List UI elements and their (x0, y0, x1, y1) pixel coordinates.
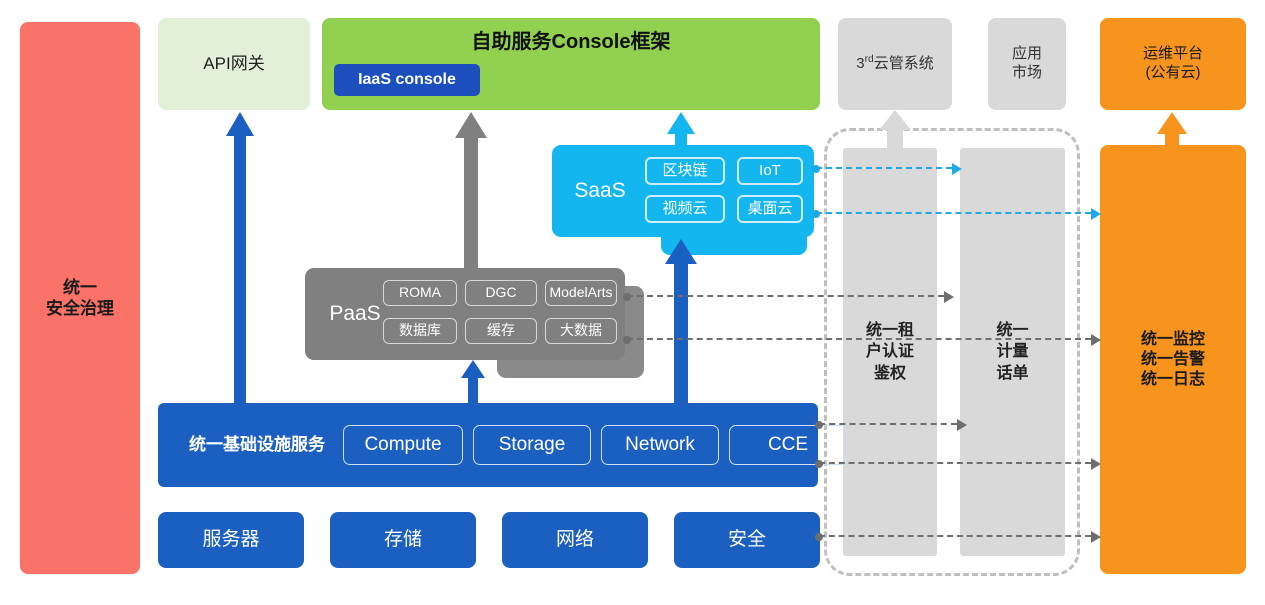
line-arrow-head (952, 163, 962, 175)
third-party-prefix: 3 (856, 55, 864, 72)
paas-tag-database[interactable]: 数据库 (383, 318, 457, 344)
col2-line-2: 计量 (996, 341, 1028, 363)
third-party-cloud-mgmt-box: 3rd云管系统 (838, 18, 952, 110)
paas-label: PaaS (317, 298, 393, 330)
governance-line-2: 安全治理 (46, 298, 114, 319)
architecture-diagram: 统一 安全治理 API网关 自助服务Console框架 IaaS console… (0, 0, 1265, 605)
unified-metering-billing-column: 统一 计量 话单 (960, 148, 1065, 556)
saas-block: SaaS 区块链 IoT 视频云 桌面云 (552, 145, 814, 237)
line-arrow-head (1091, 334, 1101, 346)
col2-line-3: 话单 (996, 363, 1028, 385)
governance-line-1: 统一 (46, 277, 114, 298)
saas-tag-video-cloud[interactable]: 视频云 (645, 195, 725, 223)
paas-tag-roma[interactable]: ROMA (383, 280, 457, 306)
arrow-ops-body-to-ops-top (1157, 112, 1187, 145)
api-gateway-box: API网关 (158, 18, 310, 110)
resource-box-security[interactable]: 安全 (674, 512, 820, 568)
line-start-dot (623, 293, 631, 301)
line-arrow-head (944, 291, 954, 303)
saas-label: SaaS (564, 175, 636, 207)
ops-body-line-3: 统一日志 (1141, 370, 1205, 390)
unified-tenant-auth-column: 统一租 户认证 鉴权 (843, 148, 937, 556)
third-party-label: 3rd云管系统 (856, 54, 933, 74)
line-start-dot (812, 210, 820, 218)
infra-tag-network[interactable]: Network (601, 425, 719, 465)
unified-infrastructure-bar: 统一基础设施服务 Compute Storage Network CCE (158, 403, 818, 487)
third-party-suffix: 云管系统 (874, 55, 934, 72)
arrow-saas-to-console (667, 112, 695, 147)
dashed-resources-to-ops (819, 535, 1091, 537)
api-gateway-label: API网关 (203, 53, 264, 74)
col1-line-2: 户认证 (866, 341, 914, 363)
ops-platform-public-cloud-box: 运维平台 (公有云) (1100, 18, 1246, 110)
paas-tag-modelarts[interactable]: ModelArts (545, 280, 617, 306)
dashed-saas-to-ops (816, 212, 1091, 214)
line-arrow-head (957, 419, 967, 431)
arrow-paas-to-console (455, 112, 487, 268)
resource-box-storage[interactable]: 存储 (330, 512, 476, 568)
console-title: 自助服务Console框架 (322, 26, 820, 58)
arrow-infra-to-saas (665, 239, 697, 403)
infra-tag-cce[interactable]: CCE (729, 425, 847, 465)
unified-security-governance-panel: 统一 安全治理 (20, 22, 140, 574)
dashed-paas-to-auth (627, 295, 944, 297)
dashed-infra-to-ops (819, 462, 1091, 464)
dashed-saas-to-metering (816, 167, 952, 169)
line-start-dot (623, 336, 631, 344)
self-service-console-panel: 自助服务Console框架 IaaS console PaaS console … (322, 18, 820, 110)
paas-tag-bigdata[interactable]: 大数据 (545, 318, 617, 344)
ops-body-line-1: 统一监控 (1141, 330, 1205, 350)
dashed-infra-to-metering (819, 423, 957, 425)
app-market-line-1: 应用 (1012, 45, 1042, 64)
line-arrow-head (1091, 458, 1101, 470)
paas-tag-cache[interactable]: 缓存 (465, 318, 537, 344)
line-start-dot (815, 421, 823, 429)
app-market-line-2: 市场 (1012, 64, 1042, 83)
line-arrow-head (1091, 531, 1101, 543)
infrastructure-label: 统一基础设施服务 (172, 429, 342, 461)
resource-box-server[interactable]: 服务器 (158, 512, 304, 568)
iaas-console-button[interactable]: IaaS console (334, 64, 480, 96)
line-arrow-head (1091, 208, 1101, 220)
infra-tag-compute[interactable]: Compute (343, 425, 463, 465)
ops-body-line-2: 统一告警 (1141, 350, 1205, 370)
arrow-infra-to-api-gateway (226, 112, 254, 403)
saas-tag-iot[interactable]: IoT (737, 157, 803, 185)
col1-line-3: 鉴权 (866, 363, 914, 385)
dashed-paas-to-ops (627, 338, 1091, 340)
line-start-dot (815, 533, 823, 541)
app-market-box: 应用 市场 (988, 18, 1066, 110)
saas-tag-desktop-cloud[interactable]: 桌面云 (737, 195, 803, 223)
paas-tag-dgc[interactable]: DGC (465, 280, 537, 306)
ops-top-line-1: 运维平台 (1143, 45, 1203, 64)
paas-block: PaaS ROMA DGC ModelArts 数据库 缓存 大数据 (305, 268, 625, 360)
ops-platform-body-panel: 统一监控 统一告警 统一日志 (1100, 145, 1246, 574)
arrow-infra-to-paas (461, 360, 485, 403)
line-start-dot (815, 460, 823, 468)
resource-box-network[interactable]: 网络 (502, 512, 648, 568)
saas-tag-blockchain[interactable]: 区块链 (645, 157, 725, 185)
infra-tag-storage[interactable]: Storage (473, 425, 591, 465)
third-party-sup: rd (865, 54, 874, 65)
line-start-dot (812, 165, 820, 173)
ops-top-line-2: (公有云) (1143, 64, 1203, 83)
